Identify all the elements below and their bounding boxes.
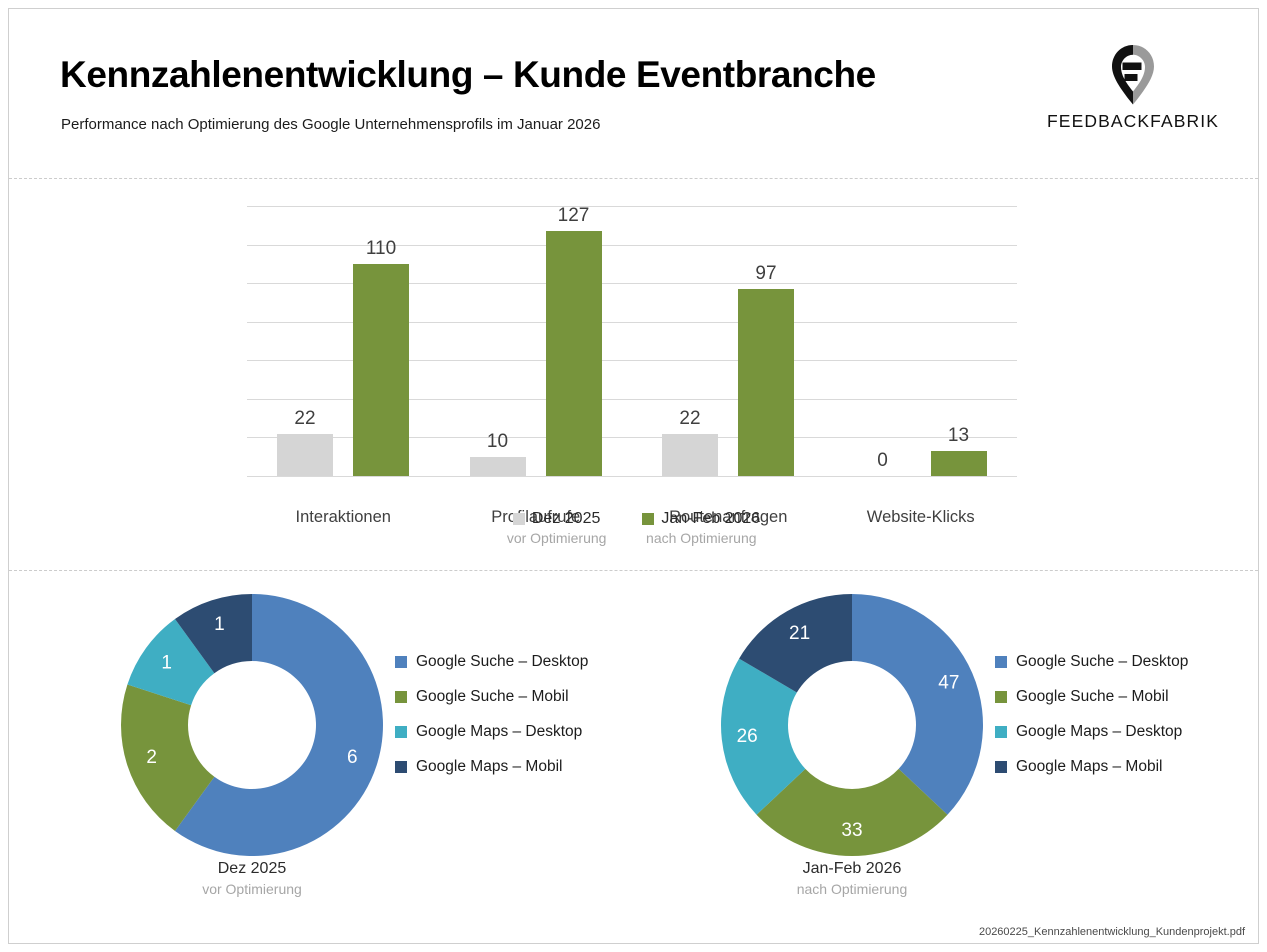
donut-before-caption-sub: vor Optimierung	[117, 881, 387, 897]
bar-group: 10127Profilaufrufe	[440, 206, 633, 476]
brand-logo-text: FEEDBACKFABRIK	[1044, 111, 1222, 132]
donut-legend-label: Google Suche – Desktop	[1016, 653, 1188, 671]
legend-swatch-icon	[995, 761, 1007, 773]
bar-chart-plot-area: 22110Interaktionen10127Profilaufrufe2297…	[247, 206, 1017, 476]
bar-after	[546, 231, 602, 476]
donut-legend-item: Google Maps – Desktop	[995, 723, 1188, 741]
donut-chart-before: 6211 Dez 2025 vor Optimierung Google Suc…	[20, 570, 620, 910]
legend-swatch-icon	[513, 513, 525, 525]
bar-legend-sublabel: nach Optimierung	[646, 530, 757, 546]
bar-legend-entry-main: Dez 2025	[513, 510, 601, 528]
map-pin-f-logo-icon	[1100, 42, 1166, 108]
donut-before-caption: Dez 2025 vor Optimierung	[117, 860, 387, 897]
donut-legend-item: Google Suche – Desktop	[995, 653, 1188, 671]
bar-value-label: 13	[931, 425, 987, 447]
bar-legend-entry-main: Jan-Feb 2026	[642, 510, 760, 528]
donut-legend-label: Google Maps – Desktop	[416, 723, 582, 741]
donut-slice	[852, 594, 983, 815]
legend-swatch-icon	[995, 656, 1007, 668]
legend-swatch-icon	[395, 691, 407, 703]
donut-legend-item: Google Maps – Mobil	[995, 758, 1188, 776]
donut-slice-value: 47	[938, 673, 959, 694]
donut-slice-value: 2	[146, 747, 157, 768]
donut-legend-item: Google Suche – Mobil	[395, 688, 588, 706]
bar-value-label: 127	[546, 205, 602, 227]
bar-legend-label: Jan-Feb 2026	[661, 510, 760, 528]
bar-before	[662, 434, 718, 476]
donut-legend-label: Google Suche – Desktop	[416, 653, 588, 671]
bar-value-label: 97	[738, 263, 794, 285]
legend-swatch-icon	[995, 691, 1007, 703]
bar-value-label: 110	[353, 238, 409, 260]
bar-before	[277, 434, 333, 476]
bar-legend-entry: Jan-Feb 2026nach Optimierung	[642, 510, 760, 546]
donut-after-caption-sub: nach Optimierung	[717, 881, 987, 897]
bar-legend-entry: Dez 2025vor Optimierung	[507, 510, 607, 546]
donut-after-caption-main: Jan-Feb 2026	[717, 860, 987, 878]
donut-legend-item: Google Suche – Mobil	[995, 688, 1188, 706]
donut-slice-value: 21	[789, 623, 810, 644]
donut-legend-label: Google Suche – Mobil	[1016, 688, 1169, 706]
legend-swatch-icon	[395, 726, 407, 738]
bar-before	[470, 457, 526, 476]
donut-legend-label: Google Maps – Mobil	[416, 758, 562, 776]
bar-group: 2297Routenanfragen	[632, 206, 825, 476]
donut-before-caption-main: Dez 2025	[117, 860, 387, 878]
page-title: Kennzahlenentwicklung – Kunde Eventbranc…	[60, 54, 876, 96]
bar-after	[738, 289, 794, 476]
slide-header: Kennzahlenentwicklung – Kunde Eventbranc…	[0, 0, 1267, 178]
legend-swatch-icon	[995, 726, 1007, 738]
donut-legend-label: Google Maps – Mobil	[1016, 758, 1162, 776]
bar-value-label: 0	[855, 450, 911, 472]
donut-after-graphic: 47332621	[717, 590, 987, 860]
bar-chart-legend: Dez 2025vor OptimierungJan-Feb 2026nach …	[0, 510, 1267, 546]
page-subtitle: Performance nach Optimierung des Google …	[61, 116, 600, 133]
legend-swatch-icon	[395, 761, 407, 773]
donut-slice-value: 26	[737, 726, 758, 747]
donut-chart-after: 47332621 Jan-Feb 2026 nach Optimierung G…	[620, 570, 1220, 910]
donut-legend-item: Google Maps – Desktop	[395, 723, 588, 741]
slide-page: Kennzahlenentwicklung – Kunde Eventbranc…	[0, 0, 1267, 952]
donut-slice-value: 1	[214, 614, 225, 635]
bar-after	[353, 264, 409, 476]
donut-legend-label: Google Maps – Desktop	[1016, 723, 1182, 741]
bar-after	[931, 451, 987, 476]
bar-legend-label: Dez 2025	[532, 510, 601, 528]
bar-value-label: 10	[470, 431, 526, 453]
donut-slice-value: 33	[841, 820, 862, 841]
donut-before-legend: Google Suche – DesktopGoogle Suche – Mob…	[395, 653, 588, 776]
footer-filename: 20260225_Kennzahlenentwicklung_Kundenpro…	[979, 926, 1245, 938]
bar-legend-sublabel: vor Optimierung	[507, 530, 607, 546]
bar-chart: 22110Interaktionen10127Profilaufrufe2297…	[0, 178, 1267, 570]
bar-value-label: 22	[277, 408, 333, 430]
bar-chart-gridline	[247, 476, 1017, 477]
donut-after-caption: Jan-Feb 2026 nach Optimierung	[717, 860, 987, 897]
donut-slice-value: 6	[347, 747, 358, 768]
donut-after-legend: Google Suche – DesktopGoogle Suche – Mob…	[995, 653, 1188, 776]
donut-before-graphic: 6211	[117, 590, 387, 860]
legend-swatch-icon	[642, 513, 654, 525]
donut-legend-label: Google Suche – Mobil	[416, 688, 569, 706]
donut-legend-item: Google Suche – Desktop	[395, 653, 588, 671]
bar-value-label: 22	[662, 408, 718, 430]
donut-charts-section: 6211 Dez 2025 vor Optimierung Google Suc…	[0, 570, 1267, 952]
bar-group: 013Website-Klicks	[825, 206, 1018, 476]
donut-slice-value: 1	[161, 652, 172, 673]
brand-logo: FEEDBACKFABRIK	[1044, 42, 1222, 134]
donut-legend-item: Google Maps – Mobil	[395, 758, 588, 776]
legend-swatch-icon	[395, 656, 407, 668]
bar-group: 22110Interaktionen	[247, 206, 440, 476]
